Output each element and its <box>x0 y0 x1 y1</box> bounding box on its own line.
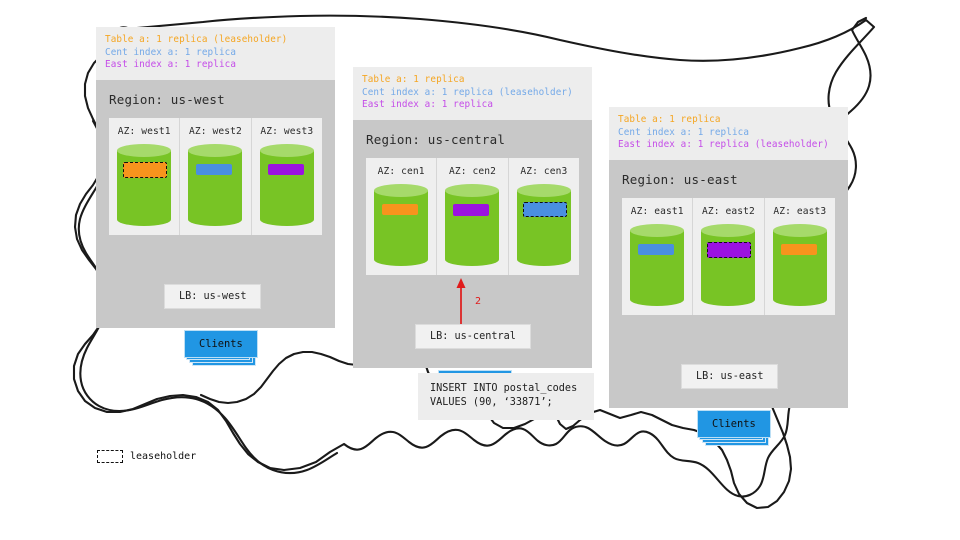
legend-label: leaseholder <box>130 451 196 462</box>
node-cylinder-cen2[interactable] <box>445 184 499 266</box>
cylinder-top <box>188 144 242 157</box>
az-label: AZ: cen2 <box>437 166 507 177</box>
az-label: AZ: east1 <box>622 206 692 217</box>
cylinder-body <box>117 150 171 219</box>
load-balancer-us-west[interactable]: LB: us-west <box>164 284 261 309</box>
replica-line-east: East index a: 1 replica (leaseholder) <box>618 139 839 152</box>
replica-line-table: Table a: 1 replica <box>362 74 583 87</box>
load-balancer-us-central[interactable]: LB: us-central <box>415 324 531 349</box>
az-strip-us-central: AZ: cen1 AZ: cen2 <box>366 158 579 275</box>
cylinder-top <box>117 144 171 157</box>
replica-line-east: East index a: 1 replica <box>105 59 326 72</box>
cylinder-body <box>630 230 684 299</box>
clients-stack-us-east[interactable]: Clients <box>697 410 771 438</box>
legend: leaseholder <box>97 450 196 463</box>
az-label: AZ: cen1 <box>366 166 436 177</box>
replica-band-table <box>781 244 817 255</box>
replica-band-table <box>382 204 418 215</box>
cylinder-body <box>445 190 499 259</box>
az-cell-west3[interactable]: AZ: west3 <box>251 118 322 235</box>
replica-band-cent <box>196 164 232 175</box>
az-label: AZ: cen3 <box>509 166 579 177</box>
request-arrow-2 <box>453 276 487 328</box>
replica-summary-us-east: Table a: 1 replica Cent index a: 1 repli… <box>609 107 848 160</box>
replica-band-east <box>268 164 304 175</box>
load-balancer-us-east[interactable]: LB: us-east <box>681 364 778 389</box>
replica-band-east <box>453 204 489 216</box>
replica-line-east: East index a: 1 replica <box>362 99 583 112</box>
clients-label[interactable]: Clients <box>184 330 258 358</box>
node-cylinder-cen1[interactable] <box>374 184 428 266</box>
region-body-us-central: Region: us-central AZ: cen1 AZ: cen2 <box>353 120 592 368</box>
region-body-us-east: Region: us-east AZ: east1 AZ: east2 <box>609 160 848 408</box>
node-cylinder-cen3[interactable] <box>517 184 571 266</box>
cylinder-body <box>701 230 755 299</box>
node-cylinder-east2[interactable] <box>701 224 755 306</box>
node-cylinder-east3[interactable] <box>773 224 827 306</box>
node-cylinder-west1[interactable] <box>117 144 171 226</box>
replica-line-cent: Cent index a: 1 replica (leaseholder) <box>362 87 583 100</box>
az-label: AZ: west3 <box>252 126 322 137</box>
sql-statement-box: INSERT INTO postal_codes VALUES (90, ‘33… <box>418 373 594 420</box>
replica-summary-us-west: Table a: 1 replica (leaseholder) Cent in… <box>96 27 335 80</box>
region-title-us-central: Region: us-central <box>353 120 592 158</box>
cylinder-body <box>188 150 242 219</box>
cylinder-body <box>517 190 571 259</box>
replica-line-cent: Cent index a: 1 replica <box>105 47 326 60</box>
dashed-rectangle-icon <box>97 450 123 463</box>
clients-stack-us-west[interactable]: Clients <box>184 330 258 358</box>
replica-line-cent: Cent index a: 1 replica <box>618 127 839 140</box>
cylinder-top <box>701 224 755 237</box>
cylinder-top <box>374 184 428 197</box>
az-strip-us-west: AZ: west1 AZ: west2 <box>109 118 322 235</box>
az-cell-east3[interactable]: AZ: east3 <box>764 198 835 315</box>
az-cell-cen1[interactable]: AZ: cen1 <box>366 158 436 275</box>
cylinder-top <box>773 224 827 237</box>
cylinder-top <box>517 184 571 197</box>
region-us-west: Table a: 1 replica (leaseholder) Cent in… <box>96 27 335 328</box>
replica-band-cent <box>638 244 674 255</box>
replica-line-table: Table a: 1 replica <box>618 114 839 127</box>
az-strip-us-east: AZ: east1 AZ: east2 <box>622 198 835 315</box>
replica-band-east-leaseholder <box>707 242 751 258</box>
cylinder-top <box>445 184 499 197</box>
az-label: AZ: east2 <box>693 206 763 217</box>
az-label: AZ: east3 <box>765 206 835 217</box>
replica-band-table-leaseholder <box>123 162 167 178</box>
region-body-us-west: Region: us-west AZ: west1 AZ: west2 <box>96 80 335 328</box>
region-title-us-west: Region: us-west <box>96 80 335 118</box>
az-cell-east2[interactable]: AZ: east2 <box>692 198 763 315</box>
az-cell-west2[interactable]: AZ: west2 <box>179 118 250 235</box>
replica-summary-us-central: Table a: 1 replica Cent index a: 1 repli… <box>353 67 592 120</box>
node-cylinder-west3[interactable] <box>260 144 314 226</box>
cylinder-top <box>260 144 314 157</box>
cylinder-body <box>374 190 428 259</box>
node-cylinder-west2[interactable] <box>188 144 242 226</box>
az-cell-west1[interactable]: AZ: west1 <box>109 118 179 235</box>
region-title-us-east: Region: us-east <box>609 160 848 198</box>
replica-band-cent-leaseholder <box>523 202 567 217</box>
cylinder-top <box>630 224 684 237</box>
az-label: AZ: west1 <box>109 126 179 137</box>
az-cell-cen2[interactable]: AZ: cen2 <box>436 158 507 275</box>
az-cell-cen3[interactable]: AZ: cen3 <box>508 158 579 275</box>
region-us-central: Table a: 1 replica Cent index a: 1 repli… <box>353 67 592 368</box>
replica-line-table: Table a: 1 replica (leaseholder) <box>105 34 326 47</box>
az-label: AZ: west2 <box>180 126 250 137</box>
region-us-east: Table a: 1 replica Cent index a: 1 repli… <box>609 107 848 408</box>
node-cylinder-east1[interactable] <box>630 224 684 306</box>
cylinder-body <box>260 150 314 219</box>
az-cell-east1[interactable]: AZ: east1 <box>622 198 692 315</box>
clients-label[interactable]: Clients <box>697 410 771 438</box>
diagram-canvas: Table a: 1 replica (leaseholder) Cent in… <box>0 0 960 540</box>
cylinder-body <box>773 230 827 299</box>
